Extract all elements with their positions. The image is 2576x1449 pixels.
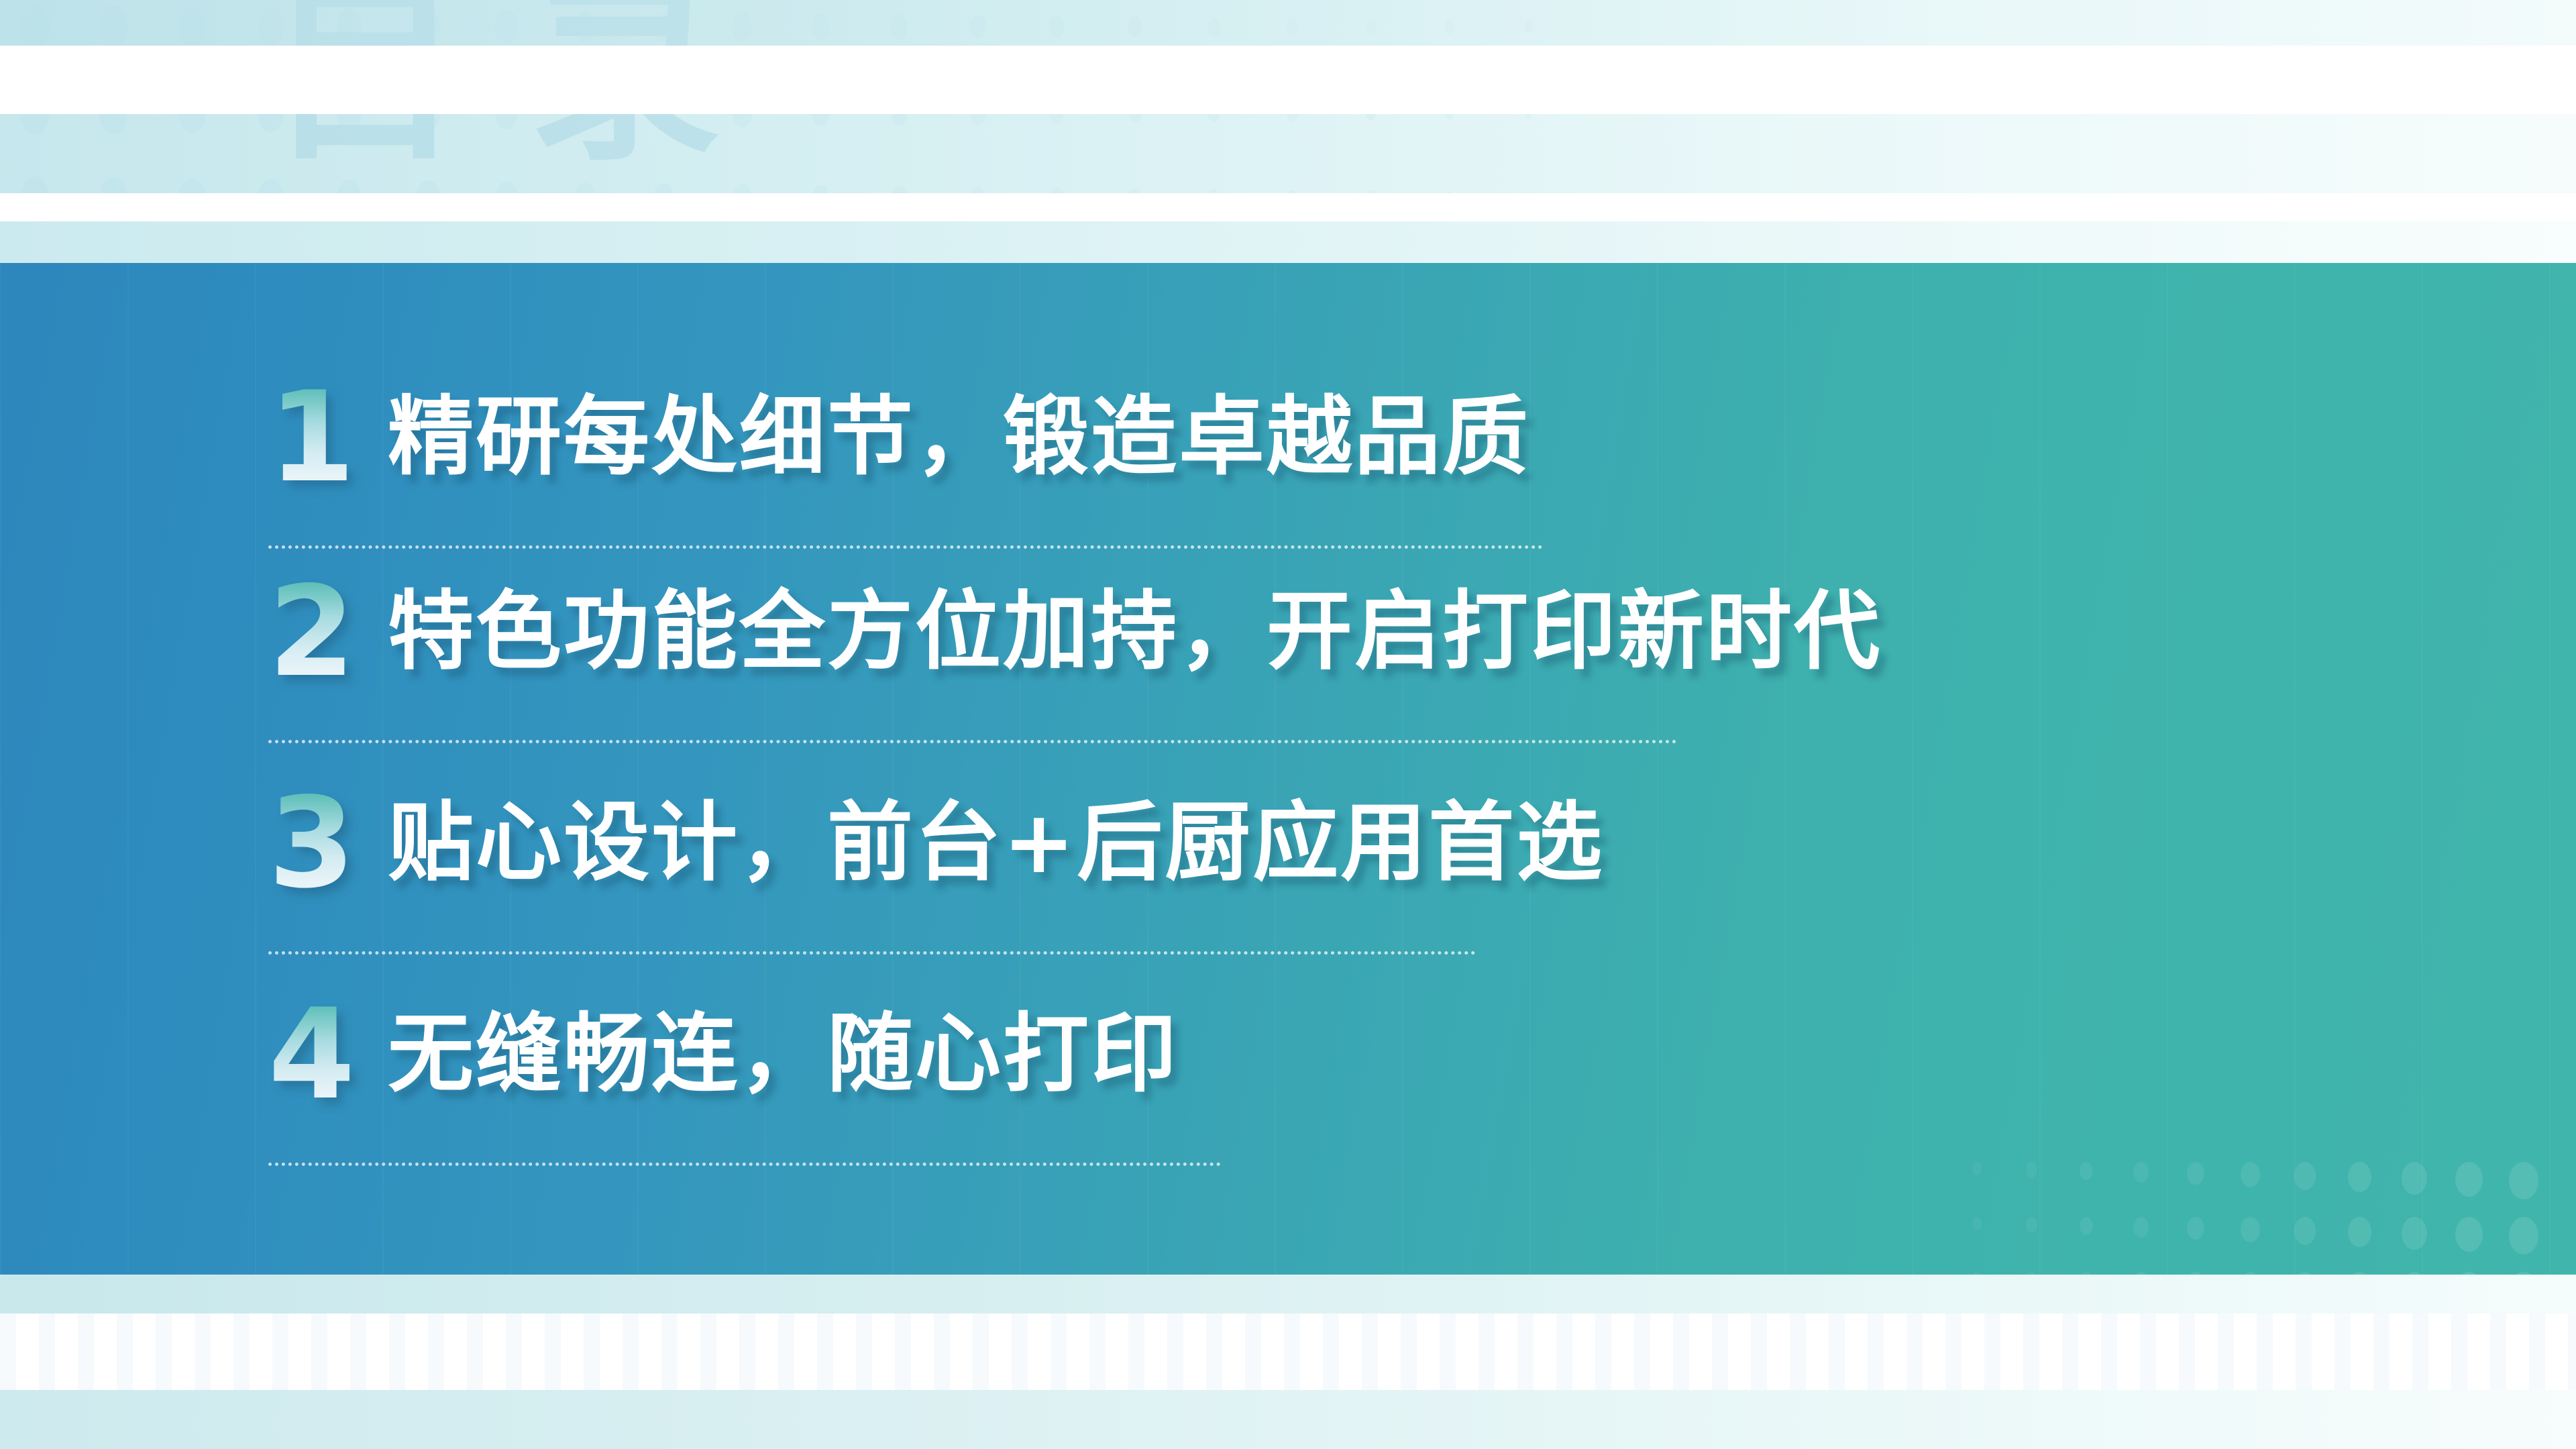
toc-list: 1 精研每处细节，锻造卓越品质 2 特色功能全方位加持，开启打印新时代 3 贴心… — [0, 263, 2576, 1275]
toc-item-2[interactable]: 2 特色功能全方位加持，开启打印新时代 — [268, 531, 2214, 733]
title-slice-upper — [0, 46, 2576, 114]
header-dot — [1207, 17, 1220, 36]
header-dot-pattern — [0, 0, 1610, 263]
slide-header: 目录 — [0, 0, 2576, 263]
toc-main-panel: 1 精研每处细节，锻造卓越品质 2 特色功能全方位加持，开启打印新时代 3 贴心… — [0, 263, 2576, 1275]
toc-item-2-label: 特色功能全方位加持，开启打印新时代 — [388, 584, 1882, 680]
toc-item-2-number: 2 — [268, 570, 369, 694]
header-dot — [1049, 15, 1064, 38]
header-dot — [1287, 18, 1298, 36]
toc-slide: 目录 1 精研每处细节，锻造卓越品质 2 特色功能全方位加持，开启打印新时代 3… — [0, 0, 2576, 1449]
toc-item-1[interactable]: 1 精研每处细节，锻造卓越品质 — [268, 337, 2214, 538]
header-dot — [20, 5, 50, 49]
toc-item-4-label: 无缝畅连，随心打印 — [388, 1006, 1179, 1102]
toc-item-3-label: 贴心设计，前台+后厨应用首选 — [388, 795, 1604, 891]
header-dot — [99, 5, 127, 48]
header-dot — [1445, 20, 1454, 34]
toc-item-4-separator — [268, 1163, 1221, 1166]
toc-item-3-number: 3 — [268, 781, 369, 906]
header-dot — [970, 15, 986, 39]
toc-item-4-number: 4 — [268, 992, 369, 1117]
header-dot — [1366, 19, 1376, 34]
footer-band-bottom — [0, 1390, 2576, 1449]
toc-item-3[interactable]: 3 贴心设计，前台+后厨应用首选 — [268, 743, 2214, 944]
toc-item-1-label: 精研每处细节，锻造卓越品质 — [388, 389, 1530, 485]
header-dot — [1128, 17, 1142, 38]
header-dot — [812, 13, 830, 41]
footer-band-top — [0, 1275, 2576, 1313]
slide-footer — [0, 1275, 2576, 1449]
toc-item-4[interactable]: 4 无缝畅连，随心打印 — [268, 954, 2214, 1155]
title-slice-lower — [0, 193, 2576, 221]
header-dot — [1524, 21, 1532, 33]
toc-item-1-number: 1 — [268, 375, 369, 500]
header-dot — [891, 14, 908, 40]
header-dot — [178, 7, 206, 48]
